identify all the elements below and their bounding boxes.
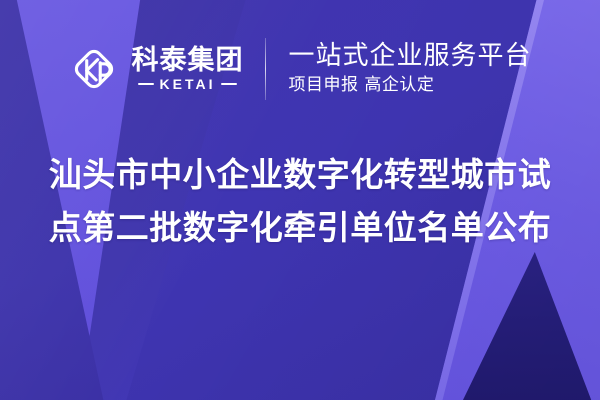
- brand-wordmark: 科泰集团 KETAI: [131, 47, 243, 91]
- tagline-main: 一站式企业服务平台: [288, 43, 531, 70]
- brand-name-cn: 科泰集团: [131, 47, 243, 74]
- page-title: 汕头市中小企业数字化转型城市试 点第二批数字化牵引单位名单公布: [0, 148, 600, 254]
- tagline-block: 一站式企业服务平台 项目申报 高企认定: [288, 43, 531, 94]
- vertical-divider: [265, 38, 266, 100]
- headline-line-2: 点第二批数字化牵引单位名单公布: [14, 201, 586, 254]
- tagline-sub: 项目申报 高企认定: [288, 77, 531, 95]
- banner-content: 科泰集团 KETAI 一站式企业服务平台 项目申报 高企认定 汕头市中小企业数字…: [0, 0, 600, 400]
- promo-banner: 科泰集团 KETAI 一站式企业服务平台 项目申报 高企认定 汕头市中小企业数字…: [0, 0, 600, 400]
- brand-name-en: KETAI: [160, 77, 216, 91]
- ketai-kp-monogram-icon: [68, 43, 120, 95]
- banner-header: 科泰集团 KETAI 一站式企业服务平台 项目申报 高企认定: [0, 38, 600, 100]
- headline-line-1: 汕头市中小企业数字化转型城市试: [14, 148, 586, 201]
- brand-rule-right: [221, 83, 237, 85]
- brand-name-en-row: KETAI: [131, 77, 243, 91]
- brand-rule-left: [138, 83, 154, 85]
- brand-lockup: 科泰集团 KETAI: [68, 43, 243, 95]
